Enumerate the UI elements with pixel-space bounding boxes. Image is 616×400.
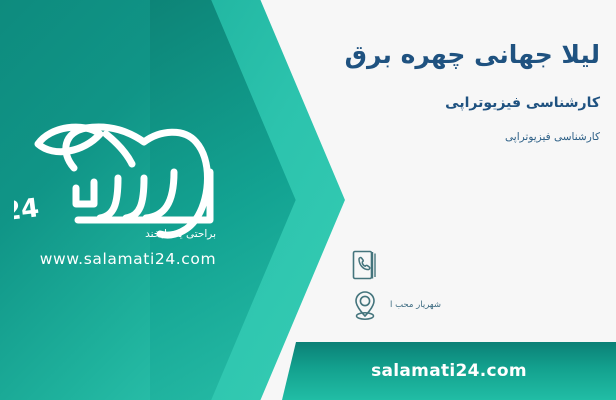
contact-row-phone[interactable] — [348, 248, 598, 282]
contact-row-address[interactable]: شهریار محب ا — [348, 288, 598, 322]
business-card: 24 براحتی یک لبخند www.salamati24.com لی… — [0, 0, 616, 400]
profession-primary: کارشناسی فیزیوتراپی — [340, 95, 600, 111]
location-pin-icon — [348, 288, 382, 322]
footer-website: salamati24.com — [371, 361, 527, 381]
address-value: شهریار محب ا — [390, 300, 441, 310]
footer-bar[interactable]: salamati24.com — [282, 342, 616, 400]
card-content: لیلا جهانی چهره برق کارشناسی فیزیوتراپی … — [336, 0, 616, 400]
page-title: لیلا جهانی چهره برق — [340, 38, 600, 72]
contact-block: شهریار محب ا — [348, 248, 598, 328]
profession-secondary: کارشناسی فیزیوتراپی — [340, 131, 600, 143]
phone-book-icon — [348, 248, 382, 282]
teal-chevron-panel — [0, 0, 360, 400]
